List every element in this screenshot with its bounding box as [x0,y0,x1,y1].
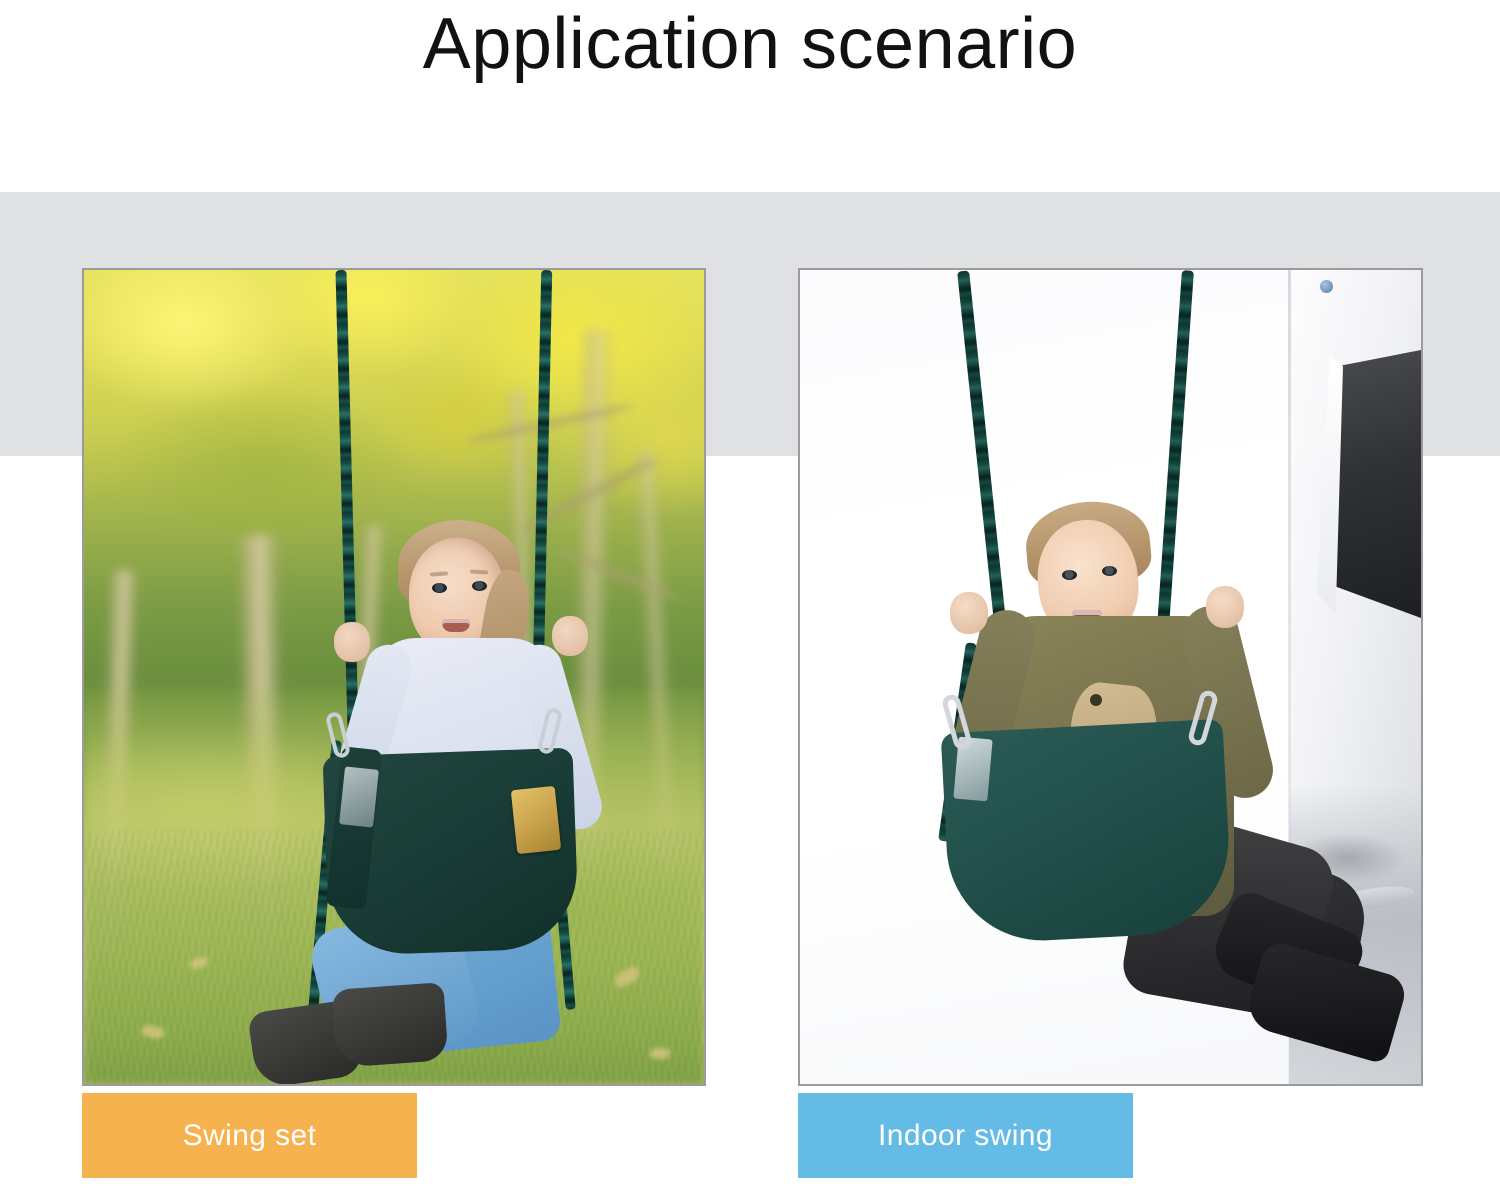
child-eyebrow [470,570,488,575]
photo-card-indoor-swing[interactable] [798,268,1423,1086]
photo-card-swing-set[interactable] [82,268,706,1086]
child-hand [552,616,588,656]
child-boot [331,982,448,1068]
child-hand [1206,586,1244,628]
application-scenario-page: Application scenario [0,0,1500,1196]
child-eye [1062,570,1077,580]
swing-seat-brass-plate [511,786,561,854]
child-hand [950,592,988,634]
child-eye [472,581,487,591]
jacket-toggle [1090,694,1102,706]
caption-swing-set-label: Swing set [183,1119,317,1153]
child-hand [334,622,370,662]
child-eye [1102,566,1117,576]
page-title: Application scenario [0,0,1500,90]
caption-indoor-swing[interactable]: Indoor swing [798,1093,1133,1178]
photo-indoor-swing [800,270,1421,1084]
caption-indoor-swing-label: Indoor swing [878,1119,1053,1153]
child-mouth [442,619,470,632]
child-eye [432,583,447,593]
swing-seat-label [339,766,379,827]
wall-marker-dot [1320,280,1333,293]
caption-swing-set[interactable]: Swing set [82,1093,417,1178]
photo-swing-set [84,270,704,1084]
